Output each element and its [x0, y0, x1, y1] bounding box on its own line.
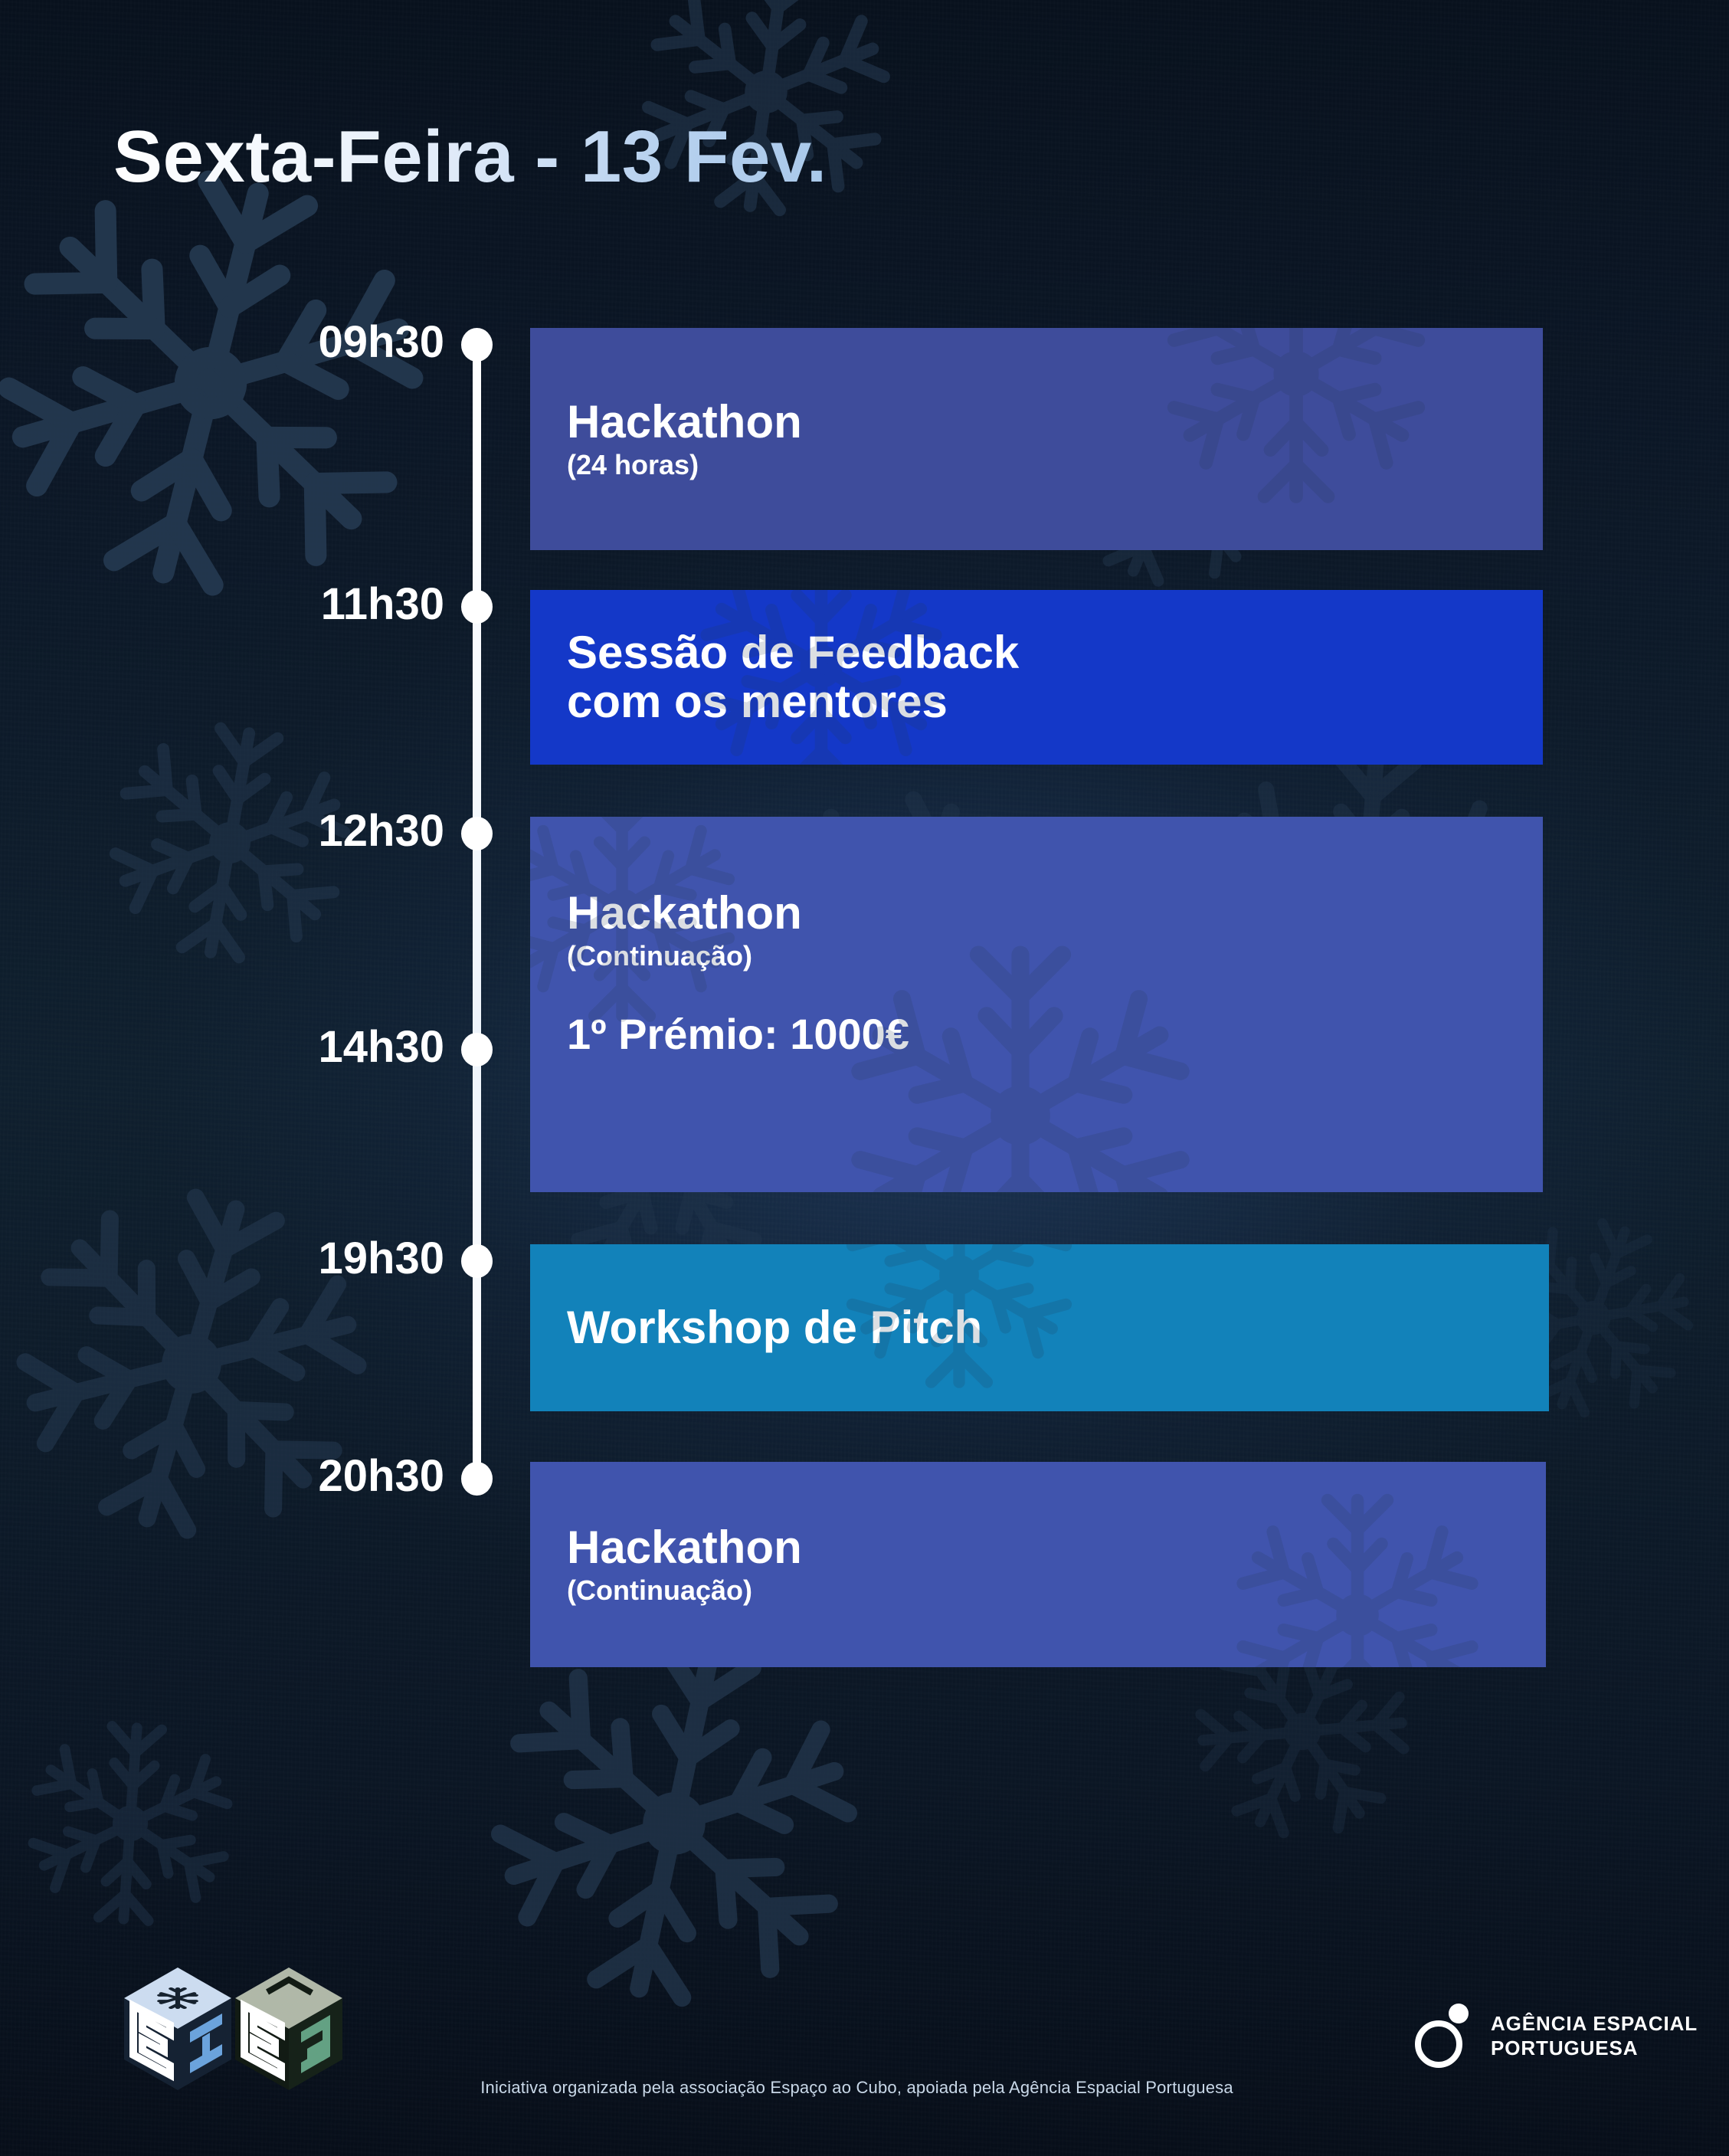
event-title-line2: com os mentores: [567, 677, 1543, 726]
page-title: Sexta-Feira - 13 Fev.: [113, 115, 827, 199]
poster-canvas: Sexta-Feira - 13 Fev. 09h30 11h30 12h30 …: [0, 0, 1729, 2156]
event-title-line1: Sessão de Feedback: [567, 628, 1543, 677]
timeline-label-5: 19h30: [61, 1233, 444, 1284]
event-block-hackathon-1[interactable]: Hackathon (24 horas): [530, 328, 1543, 550]
event-subtitle: (Continuação): [567, 941, 1543, 972]
event-title: Hackathon: [567, 889, 1543, 938]
espaco-ao-cubo-blue-logo: [124, 1968, 231, 2090]
event-block-workshop[interactable]: Workshop de Pitch: [530, 1244, 1549, 1411]
event-block-hackathon-3[interactable]: Hackathon (Continuação): [530, 1462, 1546, 1667]
timeline-dot-12h30: [461, 817, 493, 850]
aep-label-line1: AGÊNCIA ESPACIAL: [1491, 2012, 1698, 2036]
event-block-hackathon-2[interactable]: Hackathon (Continuação) 1º Prémio: 1000€: [530, 817, 1543, 1192]
timeline-dot-20h30: [461, 1462, 493, 1496]
event-title: Hackathon: [567, 398, 1543, 447]
event-block-feedback[interactable]: Sessão de Feedback com os mentores: [530, 590, 1543, 765]
timeline-dot-09h30: [461, 328, 493, 362]
block-flake-overlay: [530, 817, 1543, 1192]
event-title: Workshop de Pitch: [567, 1303, 1549, 1352]
timeline-label-3: 12h30: [61, 805, 444, 857]
event-subtitle: (Continuação): [567, 1575, 1546, 1606]
timeline-axis: [473, 343, 481, 1492]
timeline-dot-11h30: [461, 590, 493, 624]
event-title: Hackathon: [567, 1523, 1546, 1572]
event-subtitle: (24 horas): [567, 450, 1543, 480]
timeline-label-1: 09h30: [61, 316, 444, 368]
timeline-label-4: 14h30: [61, 1021, 444, 1073]
timeline-dot-19h30: [461, 1244, 493, 1278]
aep-circle-icon: [1410, 2001, 1474, 2072]
event-prize: 1º Prémio: 1000€: [567, 1011, 1543, 1058]
credit-line: Iniciativa organizada pela associação Es…: [0, 2078, 1729, 2098]
agencia-espacial-portuguesa-logo: AGÊNCIA ESPACIAL PORTUGUESA: [1410, 2001, 1698, 2072]
aep-label-line2: PORTUGUESA: [1491, 2036, 1698, 2061]
espaco-ao-cubo-green-logo: [235, 1968, 342, 2090]
timeline-label-6: 20h30: [61, 1450, 444, 1502]
timeline-dot-14h30: [461, 1033, 493, 1067]
timeline-label-2: 11h30: [61, 578, 444, 630]
